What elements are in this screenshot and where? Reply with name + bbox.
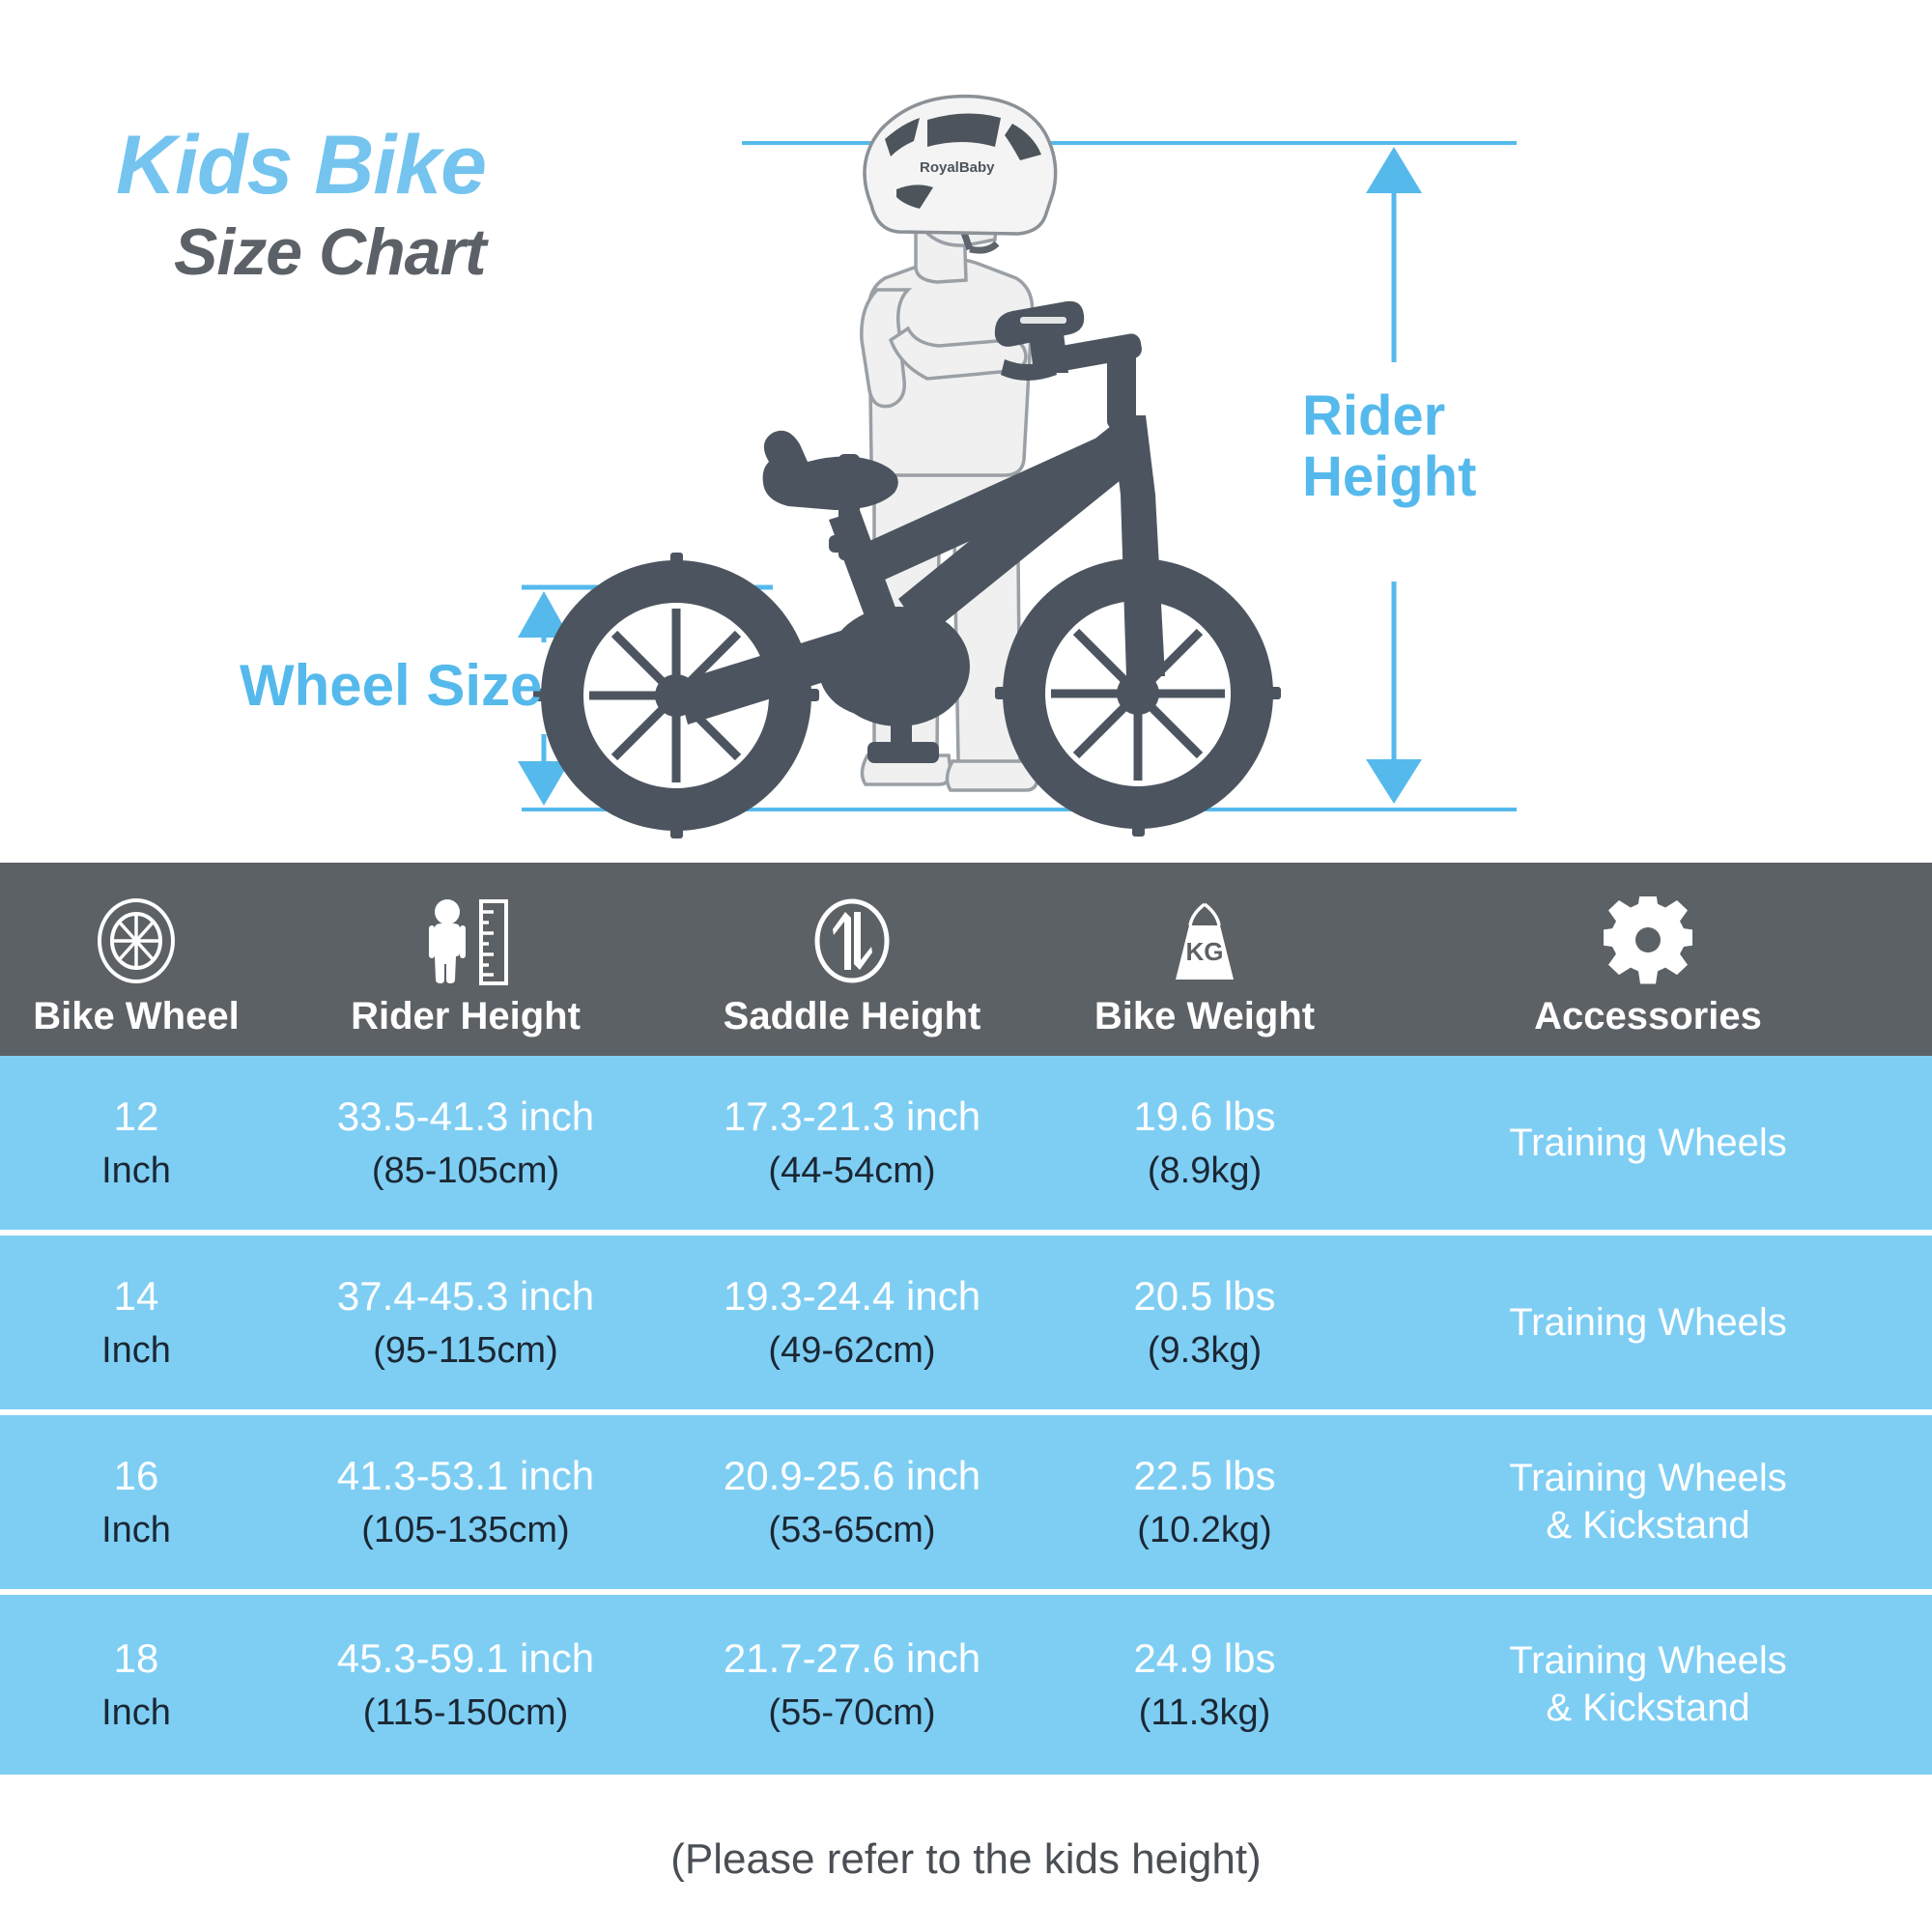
accessories-line2: & Kickstand [1546, 1685, 1749, 1732]
wheel-value: 12 [114, 1093, 159, 1141]
cell-saddle-height: 19.3-24.4 inch (49-62cm) [659, 1236, 1045, 1409]
cell-bike-weight: 19.6 lbs (8.9kg) [1045, 1056, 1364, 1230]
header-label-bike-wheel: Bike Wheel [33, 995, 239, 1038]
kg-weight-icon: KG [1160, 896, 1249, 985]
cell-accessories: Training Wheels [1364, 1056, 1932, 1230]
cell-bike-wheel: 18 Inch [0, 1595, 272, 1775]
header-cell-bike-weight: KG Bike Weight [1045, 863, 1364, 1056]
wheel-value: 14 [114, 1272, 159, 1321]
accessories-line1: Training Wheels [1509, 1120, 1787, 1167]
rider-height-inch: 37.4-45.3 inch [337, 1272, 594, 1321]
header-label-bike-weight: Bike Weight [1094, 995, 1315, 1038]
svg-text:KG: KG [1186, 937, 1224, 966]
cell-rider-height: 45.3-59.1 inch (115-150cm) [272, 1595, 659, 1775]
rider-height-label-line1: Rider [1302, 386, 1476, 447]
wheel-unit: Inch [101, 1691, 171, 1735]
rider-height-inch: 33.5-41.3 inch [337, 1093, 594, 1141]
kids-bike-size-chart-page: Kids Bike Size Chart [0, 0, 1932, 1932]
size-chart-table: Bike Wheel [0, 863, 1932, 1775]
table-row: 16 Inch 41.3-53.1 inch (105-135cm) 20.9-… [0, 1415, 1932, 1595]
accessories-line1: Training Wheels [1509, 1637, 1787, 1685]
saddle-height-inch: 20.9-25.6 inch [724, 1452, 980, 1500]
rider-height-inch: 45.3-59.1 inch [337, 1634, 594, 1683]
saddle-height-cm: (49-62cm) [768, 1329, 935, 1373]
cell-accessories: Training Wheels [1364, 1236, 1932, 1409]
saddle-height-inch: 17.3-21.3 inch [724, 1093, 980, 1141]
helmet-icon: RoyalBaby [865, 97, 1056, 234]
cell-saddle-height: 20.9-25.6 inch (53-65cm) [659, 1415, 1045, 1589]
cell-accessories: Training Wheels & Kickstand [1364, 1415, 1932, 1589]
footnote-text: (Please refer to the kids height) [0, 1835, 1932, 1884]
person-ruler-icon [415, 896, 516, 985]
weight-kg: (9.3kg) [1148, 1329, 1262, 1373]
weight-lbs: 24.9 lbs [1133, 1634, 1275, 1683]
cell-bike-wheel: 12 Inch [0, 1056, 272, 1230]
table-row: 12 Inch 33.5-41.3 inch (85-105cm) 17.3-2… [0, 1056, 1932, 1236]
cell-bike-weight: 20.5 lbs (9.3kg) [1045, 1236, 1364, 1409]
table-header-row: Bike Wheel [0, 863, 1932, 1056]
weight-lbs: 22.5 lbs [1133, 1452, 1275, 1500]
cell-bike-weight: 24.9 lbs (11.3kg) [1045, 1595, 1364, 1775]
hero-illustration-area: Kids Bike Size Chart [0, 0, 1932, 860]
up-down-arrow-circle-icon [808, 896, 896, 985]
header-cell-rider-height: Rider Height [272, 863, 659, 1056]
header-cell-saddle-height: Saddle Height [659, 863, 1045, 1056]
accessories-line2: & Kickstand [1546, 1502, 1749, 1549]
saddle-height-cm: (53-65cm) [768, 1509, 935, 1552]
rider-height-inch: 41.3-53.1 inch [337, 1452, 594, 1500]
wheel-unit: Inch [101, 1509, 171, 1552]
accessories-line1: Training Wheels [1509, 1455, 1787, 1502]
saddle-height-inch: 19.3-24.4 inch [724, 1272, 980, 1321]
table-row: 14 Inch 37.4-45.3 inch (95-115cm) 19.3-2… [0, 1236, 1932, 1415]
header-label-accessories: Accessories [1534, 995, 1762, 1038]
weight-kg: (11.3kg) [1139, 1691, 1271, 1735]
saddle-height-cm: (55-70cm) [768, 1691, 935, 1735]
cell-rider-height: 37.4-45.3 inch (95-115cm) [272, 1236, 659, 1409]
weight-lbs: 19.6 lbs [1133, 1093, 1275, 1141]
rider-height-cm: (85-105cm) [372, 1150, 559, 1193]
weight-kg: (10.2kg) [1137, 1509, 1271, 1552]
gear-icon [1604, 896, 1692, 985]
cell-rider-height: 41.3-53.1 inch (105-135cm) [272, 1415, 659, 1589]
cell-rider-height: 33.5-41.3 inch (85-105cm) [272, 1056, 659, 1230]
wheel-value: 16 [114, 1452, 159, 1500]
rider-height-cm: (115-150cm) [363, 1691, 569, 1735]
header-cell-accessories: Accessories [1364, 863, 1932, 1056]
header-label-rider-height: Rider Height [351, 995, 581, 1038]
cell-bike-wheel: 14 Inch [0, 1236, 272, 1409]
cell-saddle-height: 17.3-21.3 inch (44-54cm) [659, 1056, 1045, 1230]
rider-height-cm: (95-115cm) [373, 1329, 557, 1373]
cell-accessories: Training Wheels & Kickstand [1364, 1595, 1932, 1775]
wheel-unit: Inch [101, 1329, 171, 1373]
saddle-height-inch: 21.7-27.6 inch [724, 1634, 980, 1683]
weight-kg: (8.9kg) [1148, 1150, 1262, 1193]
cell-saddle-height: 21.7-27.6 inch (55-70cm) [659, 1595, 1045, 1775]
header-cell-bike-wheel: Bike Wheel [0, 863, 272, 1056]
helmet-brand-text: RoyalBaby [920, 159, 995, 176]
table-row: 18 Inch 45.3-59.1 inch (115-150cm) 21.7-… [0, 1595, 1932, 1775]
wheel-size-label: Wheel Size [240, 652, 542, 719]
header-label-saddle-height: Saddle Height [724, 995, 981, 1038]
bike-and-rider-illustration: RoyalBaby [0, 0, 1932, 860]
accessories-line1: Training Wheels [1509, 1299, 1787, 1347]
weight-lbs: 20.5 lbs [1133, 1272, 1275, 1321]
wheel-unit: Inch [101, 1150, 171, 1193]
rider-height-label: Rider Height [1302, 386, 1476, 507]
saddle-height-cm: (44-54cm) [768, 1150, 935, 1193]
rider-height-cm: (105-135cm) [361, 1509, 569, 1552]
cell-bike-weight: 22.5 lbs (10.2kg) [1045, 1415, 1364, 1589]
bike-wheel-icon [95, 896, 178, 985]
cell-bike-wheel: 16 Inch [0, 1415, 272, 1589]
wheel-value: 18 [114, 1634, 159, 1683]
rider-height-label-line2: Height [1302, 447, 1476, 508]
